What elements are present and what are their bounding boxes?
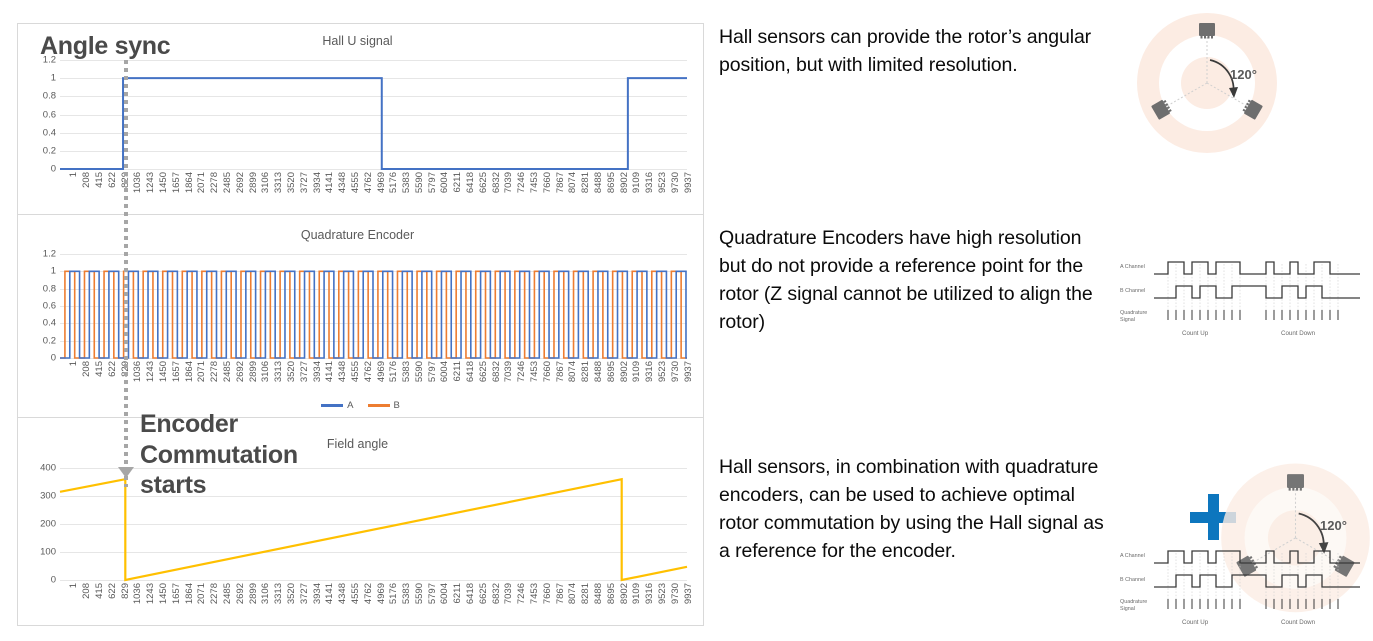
x-tick-label: 3727: [300, 172, 310, 193]
slide-root: Hall U signal 1.2 1 0.8 0.6 0.4 0.2 0: [0, 0, 1373, 641]
x-tick-label: 6004: [440, 172, 450, 193]
x-tick-label: 3106: [261, 361, 271, 382]
x-tick-label: 1450: [159, 172, 169, 193]
y-tick-field: 400: [40, 463, 56, 473]
x-tick-label: 2071: [197, 172, 207, 193]
x-tick-label: 2692: [236, 172, 246, 193]
x-tick-label: 6004: [440, 583, 450, 604]
rotor-angle-label: 120°: [1230, 67, 1257, 82]
label-count-up: Count Up: [1182, 330, 1208, 337]
x-tick-label: 3313: [274, 361, 284, 382]
label-a-channel: A Channel: [1120, 264, 1145, 271]
x-tick-label: 1036: [133, 172, 143, 193]
y-tick-encoder: 0.4: [43, 319, 56, 329]
x-tick-label: 1: [69, 583, 79, 588]
x-tick-label: 415: [95, 172, 105, 188]
x-tick-label: 8074: [568, 361, 578, 382]
x-tick-label: 1864: [185, 583, 195, 604]
chart-field-angle: Field angle 400 300 200 100 0 1208415622…: [18, 418, 703, 625]
x-tick-label: 9937: [684, 172, 694, 193]
x-tick-label: 6625: [479, 583, 489, 604]
y-tick-field: 100: [40, 547, 56, 557]
x-tick-label: 2692: [236, 361, 246, 382]
x-tick-label: 2899: [249, 361, 259, 382]
legend-swatch-a: [321, 404, 343, 407]
x-tick-label: 1: [69, 361, 79, 366]
label-b-channel-combined: B Channel: [1120, 577, 1145, 584]
x-tick-label: 5590: [415, 583, 425, 604]
x-tick-label: 5797: [428, 361, 438, 382]
x-tick-label: 415: [95, 361, 105, 377]
y-tick-encoder: 0.8: [43, 284, 56, 294]
plot-area-hall: 1.2 1 0.8 0.6 0.4 0.2 0 1208415622829103…: [60, 60, 687, 169]
x-tick-label: 2071: [197, 583, 207, 604]
x-tick-label: 8902: [620, 361, 630, 382]
x-tick-label: 1243: [146, 583, 156, 604]
x-tick-label: 7867: [556, 172, 566, 193]
angle-sync-arrow-icon: [118, 467, 134, 478]
legend-item-b: B: [368, 400, 400, 411]
y-tick-field: 300: [40, 491, 56, 501]
x-tick-label: 8488: [594, 583, 604, 604]
x-tick-label: 9937: [684, 361, 694, 382]
x-tick-label: 4141: [325, 172, 335, 193]
x-tick-label: 4762: [364, 361, 374, 382]
x-tick-label: 5797: [428, 172, 438, 193]
y-tick-hall: 0: [51, 164, 56, 174]
x-tick-label: 1657: [172, 172, 182, 193]
x-tick-label: 8281: [581, 361, 591, 382]
x-tick-label: 9523: [658, 583, 668, 604]
annotation-encoder-commutation: Encoder Commutation starts: [140, 409, 355, 501]
x-tick-label: 6004: [440, 361, 450, 382]
x-tick-label: 1657: [172, 361, 182, 382]
x-tick-label: 7039: [504, 172, 514, 193]
legend-label-b: B: [394, 400, 400, 411]
x-tick-label: 3727: [300, 583, 310, 604]
x-tick-label: 9316: [645, 172, 655, 193]
x-tick-label: 4555: [351, 361, 361, 382]
charts-panel: Hall U signal 1.2 1 0.8 0.6 0.4 0.2 0: [17, 23, 704, 626]
x-tick-label: 6418: [466, 172, 476, 193]
x-tick-label: 4969: [377, 172, 387, 193]
x-tick-label: 1: [69, 172, 79, 177]
x-tick-label: 8695: [607, 583, 617, 604]
x-tick-label: 1864: [185, 361, 195, 382]
x-tick-label: 6211: [453, 172, 463, 192]
x-tick-label: 9523: [658, 361, 668, 382]
waveform-a-channel: [1154, 262, 1360, 274]
x-tick-label: 6625: [479, 361, 489, 382]
x-tick-label: 2485: [223, 361, 233, 382]
x-tick-label: 6832: [492, 583, 502, 604]
legend-swatch-b: [368, 404, 390, 407]
x-tick-label: 6211: [453, 361, 463, 381]
label-count-up-combined: Count Up: [1182, 619, 1208, 626]
x-tick-label: 9937: [684, 583, 694, 604]
x-tick-label: 4348: [338, 172, 348, 193]
chart-title-encoder: Quadrature Encoder: [18, 228, 703, 242]
y-tick-hall: 0.4: [43, 128, 56, 138]
angle-sync-guide-line: [124, 60, 128, 487]
x-tick-label: 415: [95, 583, 105, 599]
plot-area-encoder: 1.2 1 0.8 0.6 0.4 0.2 0 1208415622829103…: [60, 254, 687, 358]
x-tick-label: 5383: [402, 361, 412, 382]
x-tick-label: 2071: [197, 361, 207, 382]
waveform-gridlines: [1168, 264, 1338, 320]
y-tick-field: 200: [40, 519, 56, 529]
x-tick-label: 7867: [556, 583, 566, 604]
x-tick-label: 622: [108, 361, 118, 377]
x-tick-label: 3313: [274, 583, 284, 604]
x-tick-label: 5383: [402, 172, 412, 193]
x-tick-label: 2485: [223, 583, 233, 604]
label-quadrature-signal: Quadrature Signal: [1120, 310, 1147, 324]
label-quadrature-signal-combined: Quadrature Signal: [1120, 599, 1147, 613]
x-tick-label: 7660: [543, 583, 553, 604]
x-tick-label: 2278: [210, 361, 220, 382]
x-tick-label: 3934: [313, 172, 323, 193]
x-tick-label: 7246: [517, 583, 527, 604]
x-tick-label: 9730: [671, 361, 681, 382]
x-tick-label: 3520: [287, 172, 297, 193]
x-tick-label: 4969: [377, 583, 387, 604]
x-tick-label: 8074: [568, 583, 578, 604]
x-tick-label: 622: [108, 172, 118, 188]
x-tick-label: 829: [121, 583, 131, 599]
x-tick-label: 8902: [620, 172, 630, 193]
x-tick-label: 1657: [172, 583, 182, 604]
x-tick-label: 5590: [415, 361, 425, 382]
x-tick-label: 7453: [530, 172, 540, 193]
x-tick-label: 9730: [671, 583, 681, 604]
x-tick-label: 5176: [389, 583, 399, 604]
x-tick-label: 3934: [313, 361, 323, 382]
x-tick-label: 2692: [236, 583, 246, 604]
annotation-angle-sync: Angle sync: [40, 31, 170, 62]
x-tick-label: 6418: [466, 583, 476, 604]
label-b-channel: B Channel: [1120, 288, 1145, 295]
x-tick-label: 4555: [351, 583, 361, 604]
x-tick-label: 2278: [210, 172, 220, 193]
x-tick-label: 7039: [504, 361, 514, 382]
x-tick-label: 9109: [632, 583, 642, 604]
x-tick-label: 1036: [133, 361, 143, 382]
x-tick-label: 8902: [620, 583, 630, 604]
x-tick-label: 5176: [389, 172, 399, 193]
x-tick-label: 2278: [210, 583, 220, 604]
quadrature-waveform-overlay-svg: [1154, 541, 1360, 619]
chart-quadrature-encoder: Quadrature Encoder 1.2 1 0.8 0.6 0.4 0.2…: [18, 215, 703, 417]
x-tick-label: 208: [82, 361, 92, 377]
x-tick-label: 208: [82, 172, 92, 188]
waveform-b-channel-combined: [1154, 575, 1360, 587]
x-tick-label: 1864: [185, 172, 195, 193]
y-tick-hall: 0.8: [43, 92, 56, 102]
x-tick-label: 2899: [249, 583, 259, 604]
waveform-quadrature-ticks: [1168, 310, 1338, 320]
x-tick-label: 9109: [632, 172, 642, 193]
x-tick-label: 1450: [159, 361, 169, 382]
y-tick-field: 0: [51, 575, 56, 585]
x-tick-label: 3727: [300, 361, 310, 382]
figure-combined-hall-encoder: 120° A Channel B Channel Quadrature Sign…: [1120, 460, 1373, 640]
x-tick-label: 5797: [428, 583, 438, 604]
x-tick-label: 6832: [492, 361, 502, 382]
x-tick-label: 8488: [594, 361, 604, 382]
x-tick-label: 9316: [645, 583, 655, 604]
x-tick-label: 8695: [607, 361, 617, 382]
waveform-a-channel-combined: [1154, 551, 1360, 563]
x-tick-label: 3520: [287, 361, 297, 382]
x-tick-label: 3106: [261, 172, 271, 193]
y-tick-encoder: 1.2: [43, 249, 56, 259]
series-encoder-ab: [60, 254, 687, 358]
x-tick-label: 3313: [274, 172, 284, 193]
y-tick-encoder: 0.2: [43, 336, 56, 346]
figure-rotor-hall-sensors: 120°: [1134, 10, 1280, 160]
x-tick-label: 3520: [287, 583, 297, 604]
x-tick-label: 208: [82, 583, 92, 599]
x-tick-label: 7453: [530, 361, 540, 382]
x-tick-label: 3106: [261, 583, 271, 604]
x-tick-label: 7660: [543, 361, 553, 382]
x-tick-label: 4969: [377, 361, 387, 382]
label-count-down-combined: Count Down: [1281, 619, 1315, 626]
paragraph-hall-plus-encoder: Hall sensors, in combination with quadra…: [719, 453, 1111, 565]
x-tick-label: 9523: [658, 172, 668, 193]
chart-title-field: Field angle: [18, 437, 703, 451]
x-tick-label: 5176: [389, 361, 399, 382]
x-tick-label: 8488: [594, 172, 604, 193]
legend-encoder: A B: [18, 400, 703, 411]
series-hall-u: [60, 60, 687, 169]
x-tick-label: 4348: [338, 361, 348, 382]
label-a-channel-combined: A Channel: [1120, 553, 1145, 560]
x-tick-label: 8695: [607, 172, 617, 193]
x-tick-label: 6832: [492, 172, 502, 193]
x-tick-label: 5383: [402, 583, 412, 604]
x-tick-label: 622: [108, 583, 118, 599]
rotor-angle-label-combined: 120°: [1320, 518, 1347, 533]
x-tick-label: 4762: [364, 172, 374, 193]
x-tick-label: 4555: [351, 172, 361, 193]
x-tick-label: 1450: [159, 583, 169, 604]
x-tick-label: 5590: [415, 172, 425, 193]
x-tick-label: 4762: [364, 583, 374, 604]
x-tick-label: 6211: [453, 583, 463, 603]
x-tick-label: 7039: [504, 583, 514, 604]
quadrature-waveform-svg: [1154, 252, 1360, 330]
x-tick-label: 7246: [517, 361, 527, 382]
x-tick-label: 1243: [146, 172, 156, 193]
y-tick-encoder: 0.6: [43, 301, 56, 311]
x-tick-label: 9316: [645, 361, 655, 382]
y-tick-encoder: 1: [51, 267, 56, 277]
y-tick-encoder: 0: [51, 353, 56, 363]
paragraph-hall-sensors: Hall sensors can provide the rotor’s ang…: [719, 23, 1111, 79]
x-tick-label: 2485: [223, 172, 233, 193]
y-tick-hall: 0.6: [43, 110, 56, 120]
figure-quadrature-waveform: A Channel B Channel Quadrature Signal Co…: [1120, 252, 1360, 342]
x-tick-label: 4141: [325, 361, 335, 382]
y-tick-hall: 1: [51, 73, 56, 83]
x-tick-label: 7246: [517, 172, 527, 193]
label-count-down: Count Down: [1281, 330, 1315, 337]
paragraph-quadrature-encoders: Quadrature Encoders have high resolution…: [719, 224, 1103, 336]
x-tick-label: 1243: [146, 361, 156, 382]
x-tick-label: 7660: [543, 172, 553, 193]
x-tick-label: 7453: [530, 583, 540, 604]
x-tick-label: 3934: [313, 583, 323, 604]
rotor-diagram-svg: [1134, 10, 1280, 160]
x-tick-label: 9730: [671, 172, 681, 193]
x-tick-label: 1036: [133, 583, 143, 604]
x-tick-label: 4348: [338, 583, 348, 604]
x-tick-label: 4141: [325, 583, 335, 604]
y-tick-hall: 0.2: [43, 146, 56, 156]
waveform-b-channel: [1154, 286, 1360, 298]
x-tick-label: 8281: [581, 583, 591, 604]
x-tick-label: 6418: [466, 361, 476, 382]
x-tick-label: 7867: [556, 361, 566, 382]
x-tick-label: 9109: [632, 361, 642, 382]
x-tick-label: 8074: [568, 172, 578, 193]
x-tick-label: 8281: [581, 172, 591, 193]
x-tick-label: 6625: [479, 172, 489, 193]
x-tick-label: 2899: [249, 172, 259, 193]
